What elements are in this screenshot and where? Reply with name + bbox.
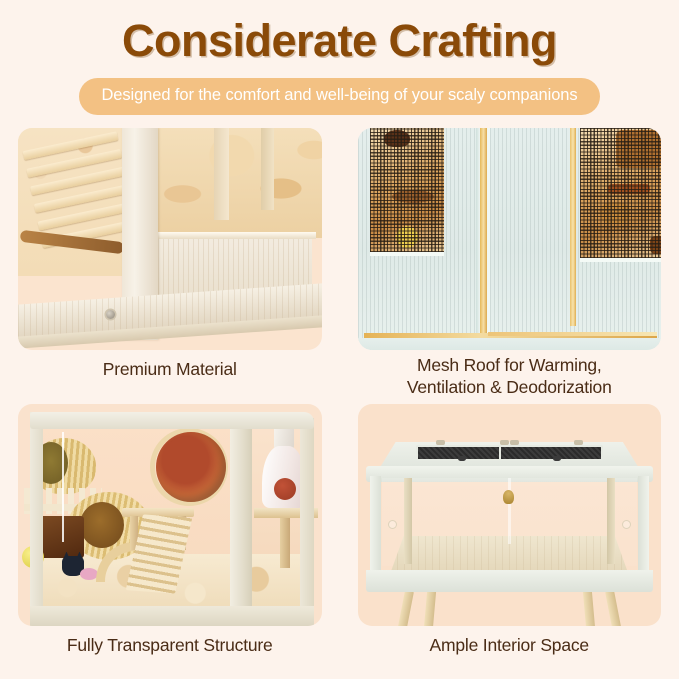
mesh-panel-left — [370, 128, 444, 252]
product-feature-graphic: Considerate Crafting Designed for the co… — [0, 0, 679, 679]
roof-rail-horizontal-inner — [488, 332, 658, 336]
caption-line-2: Ventilation & Deodorization — [346, 376, 674, 398]
roof-seam — [487, 128, 490, 334]
interior-post-2 — [261, 128, 274, 210]
cage-post-right — [300, 418, 314, 620]
caption-line-1: Mesh Roof for Warming, — [346, 354, 674, 376]
cage-leg-4 — [605, 589, 628, 625]
bottle-shelf-leg — [280, 518, 290, 568]
subtitle-pill-wrap: Designed for the comfort and well-being … — [0, 78, 679, 115]
feature-panel-premium-material: Premium Material — [0, 128, 340, 404]
door-seam — [508, 478, 511, 544]
cage-bottom-frame — [30, 606, 314, 626]
cage-leg-1 — [391, 589, 414, 625]
feature-panel-ample-interior: Ample Interior Space — [340, 404, 679, 679]
lid-knob-left — [458, 456, 466, 461]
feature-grid: Premium Material — [0, 128, 679, 679]
lid-knob-right — [553, 456, 561, 461]
caption-mesh-roof: Mesh Roof for Warming, Ventilation & Deo… — [346, 354, 674, 399]
lid-hinge-4 — [574, 440, 583, 445]
mesh-panel-right-edge — [580, 258, 662, 262]
mesh-panel-right — [580, 128, 662, 258]
page-title: Considerate Crafting — [0, 16, 679, 66]
header: Considerate Crafting Designed for the co… — [0, 0, 679, 115]
caption-premium-material: Premium Material — [6, 358, 334, 380]
lid-hinge-3 — [500, 440, 509, 445]
cage-base-skirt — [366, 570, 654, 592]
cage-leg-2 — [420, 589, 435, 625]
cage-post-left — [30, 412, 43, 608]
door-latch-icon — [503, 490, 514, 504]
water-bottle-accent — [274, 478, 296, 500]
roof-bottom-band — [358, 338, 662, 350]
roof-rail-vertical-left — [480, 128, 487, 334]
subtitle-pill: Designed for the comfort and well-being … — [79, 78, 599, 115]
screw-icon — [106, 310, 115, 319]
roof-rail-vertical-right — [570, 128, 576, 326]
ventilation-hole-right — [622, 520, 631, 529]
photo-transparent-structure — [18, 404, 322, 626]
cage-outer-post-right — [638, 476, 649, 572]
roof-mesh-lid-right — [499, 445, 603, 461]
ventilation-hole-left — [388, 520, 397, 529]
cage-top-rail — [158, 232, 316, 239]
cage-post-corner — [230, 416, 252, 622]
lid-hinge-2 — [510, 440, 519, 445]
interior-post-1 — [214, 128, 229, 220]
photo-mesh-roof — [358, 128, 662, 350]
lid-hinge-1 — [436, 440, 445, 445]
photo-premium-material — [18, 128, 322, 350]
feature-panel-transparent-structure: Fully Transparent Structure — [0, 404, 340, 679]
bedding-right — [158, 128, 322, 238]
cage-inner-post-left — [404, 478, 412, 564]
mesh-panel-left-edge — [370, 252, 444, 256]
cage-outer-post-left — [370, 476, 381, 572]
photo-ample-interior — [358, 404, 662, 626]
cage-leg-3 — [583, 589, 598, 625]
caption-transparent-structure: Fully Transparent Structure — [6, 634, 334, 656]
acrylic-panel-edge — [62, 432, 64, 542]
cage-inner-post-right — [607, 478, 615, 564]
straw-tunnel-opening — [80, 502, 124, 548]
feature-panel-mesh-roof: Mesh Roof for Warming, Ventilation & Deo… — [340, 128, 679, 404]
caption-ample-interior: Ample Interior Space — [346, 634, 674, 656]
cage-top-frame — [30, 412, 314, 429]
exercise-wheel — [156, 432, 226, 502]
